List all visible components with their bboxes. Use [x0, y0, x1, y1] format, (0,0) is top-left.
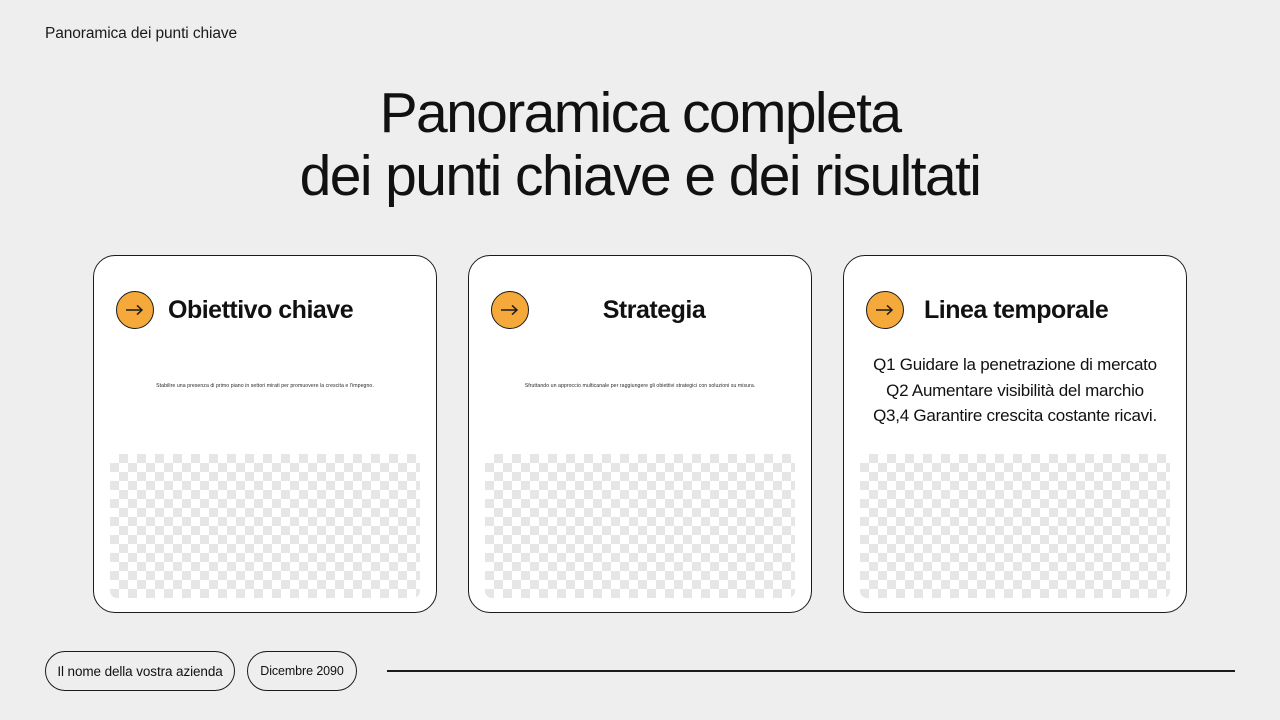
image-placeholder — [110, 454, 420, 598]
footer-divider — [387, 670, 1235, 672]
timeline-item: Q2 Aumentare visibilità del marchio — [856, 378, 1174, 404]
company-name-pill[interactable]: Il nome della vostra azienda — [45, 651, 235, 691]
card-linea-temporale[interactable]: Linea temporale Q1 Guidare la penetrazio… — [843, 255, 1187, 613]
card-body-text: Stabilire una presenza di primo piano in… — [110, 382, 420, 390]
card-timeline-list: Q1 Guidare la penetrazione di mercato Q2… — [856, 352, 1174, 429]
card-header: Obiettivo chiave — [94, 289, 436, 331]
card-header: Strategia — [469, 289, 811, 331]
card-title: Linea temporale — [924, 296, 1108, 325]
timeline-item: Q1 Guidare la penetrazione di mercato — [856, 352, 1174, 378]
card-title: Strategia — [519, 296, 789, 325]
footer: Il nome della vostra azienda Dicembre 20… — [45, 650, 1237, 692]
eyebrow-label: Panoramica dei punti chiave — [45, 25, 237, 43]
card-title: Obiettivo chiave — [168, 296, 353, 325]
timeline-item: Q3,4 Garantire crescita costante ricavi. — [856, 403, 1174, 429]
card-body-text: Sfruttando un approccio multicanale per … — [485, 382, 795, 390]
arrow-right-icon — [116, 291, 154, 329]
card-strategia[interactable]: Strategia Sfruttando un approccio multic… — [468, 255, 812, 613]
card-header: Linea temporale — [844, 289, 1186, 331]
page-title-line-1: Panoramica completa — [0, 82, 1280, 145]
page-title-line-2: dei punti chiave e dei risultati — [0, 145, 1280, 208]
image-placeholder — [860, 454, 1170, 598]
cards-row: Obiettivo chiave Stabilire una presenza … — [93, 255, 1187, 615]
arrow-right-icon — [866, 291, 904, 329]
card-obiettivo-chiave[interactable]: Obiettivo chiave Stabilire una presenza … — [93, 255, 437, 613]
date-pill[interactable]: Dicembre 2090 — [247, 651, 357, 691]
image-placeholder — [485, 454, 795, 598]
page-title: Panoramica completa dei punti chiave e d… — [0, 82, 1280, 208]
